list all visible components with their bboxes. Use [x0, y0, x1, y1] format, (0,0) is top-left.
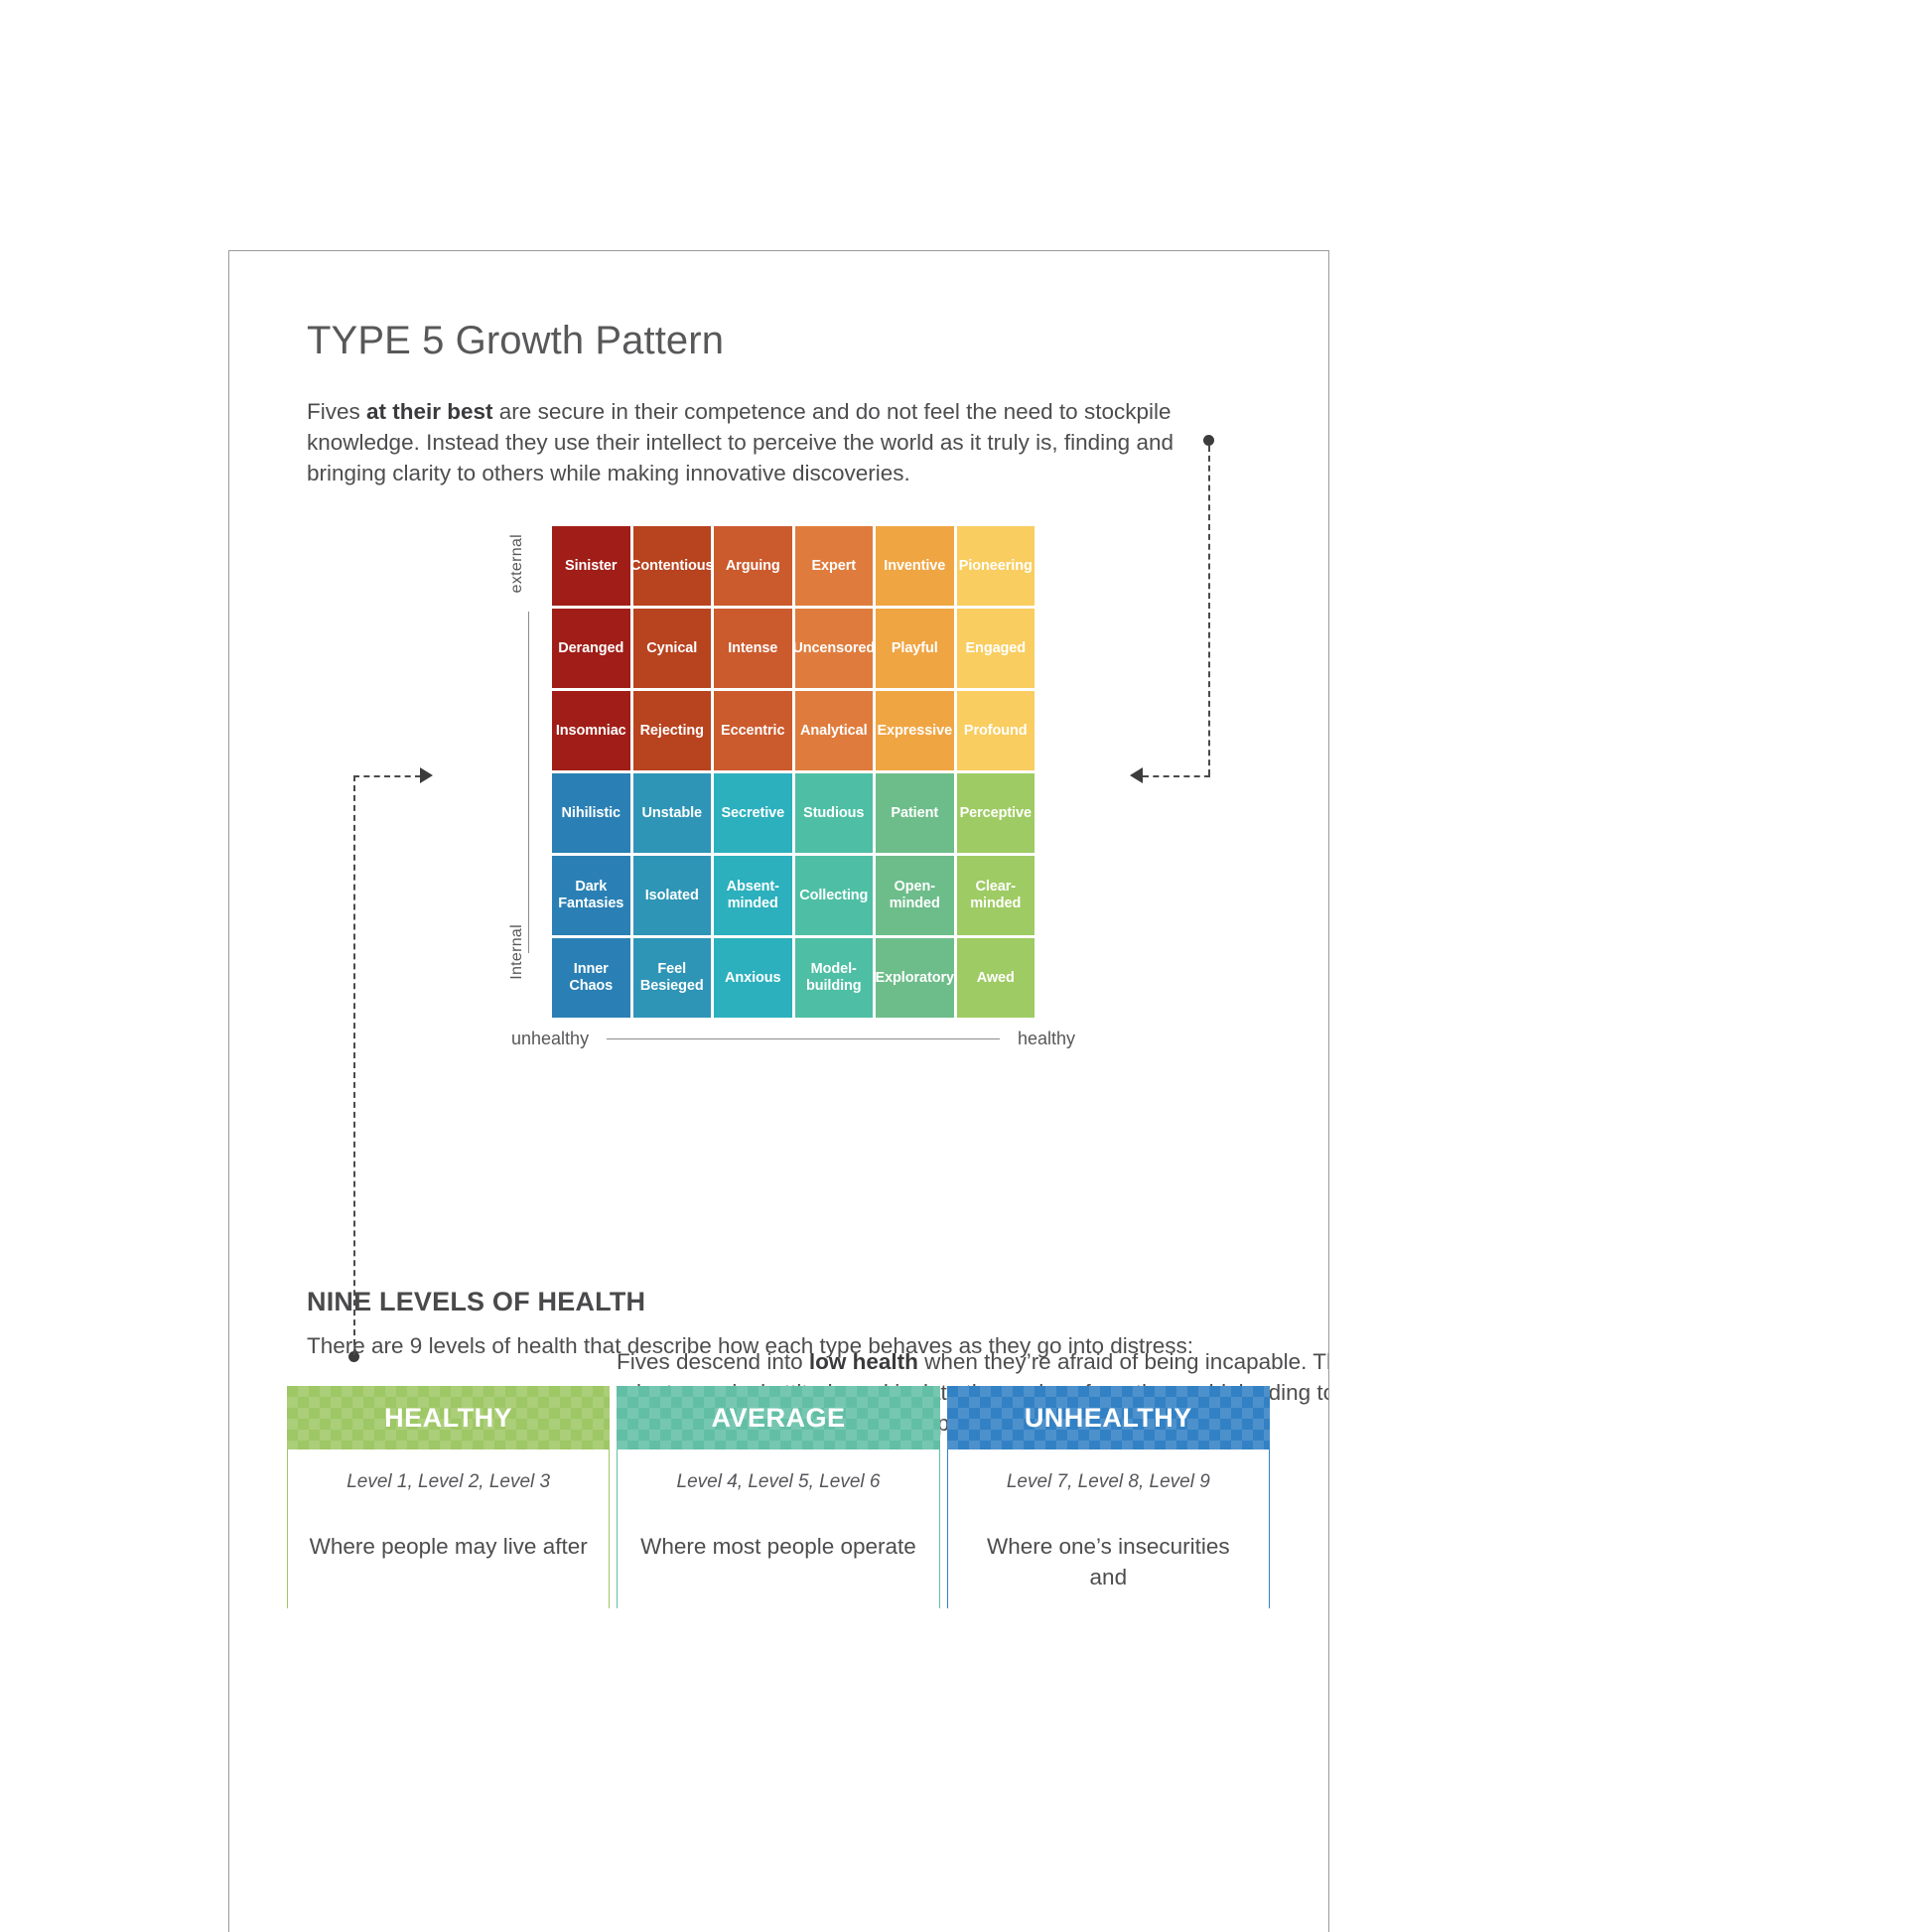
- document-page: TYPE 5 Growth Pattern Fives at their bes…: [228, 250, 1329, 1932]
- level-column-header: AVERAGE: [617, 1386, 939, 1449]
- matrix-cell: Insomniac: [552, 691, 630, 770]
- matrix-cell: Secretive: [714, 773, 792, 853]
- matrix-cell: Expressive: [876, 691, 954, 770]
- axis-label-internal: Internal: [508, 924, 526, 980]
- matrix-cell: Analytical: [795, 691, 874, 770]
- connector-arrow-left: [420, 767, 433, 783]
- connector-arrow-right: [1130, 767, 1143, 783]
- axis-horizontal: unhealthy healthy: [511, 1029, 1075, 1049]
- level-column: AVERAGELevel 4, Level 5, Level 6Where mo…: [617, 1386, 939, 1608]
- intro-paragraph: Fives at their best are secure in their …: [307, 396, 1190, 488]
- matrix-cell: Inner Chaos: [552, 938, 630, 1018]
- axis-horizontal-rule: [607, 1038, 1000, 1039]
- level-column-title: HEALTHY: [384, 1403, 512, 1434]
- matrix-cell: Inventive: [876, 526, 954, 606]
- intro-emphasis: at their best: [366, 399, 493, 424]
- matrix-cell: Intense: [714, 609, 792, 688]
- matrix-cell: Cynical: [633, 609, 712, 688]
- matrix-cell: Unstable: [633, 773, 712, 853]
- page-title: TYPE 5 Growth Pattern: [307, 319, 724, 363]
- matrix-cell: Profound: [957, 691, 1035, 770]
- matrix-cell: Isolated: [633, 856, 712, 935]
- matrix-cell: Open- minded: [876, 856, 954, 935]
- level-column: UNHEALTHYLevel 7, Level 8, Level 9Where …: [947, 1386, 1270, 1608]
- matrix-cell: Studious: [795, 773, 874, 853]
- level-column-body: Level 7, Level 8, Level 9Where one’s ins…: [947, 1449, 1270, 1608]
- matrix-cell: Awed: [957, 938, 1035, 1018]
- matrix-cell: Deranged: [552, 609, 630, 688]
- matrix-cell: Arguing: [714, 526, 792, 606]
- connector-line-left-horizontal: [353, 775, 421, 777]
- matrix-cell: Engaged: [957, 609, 1035, 688]
- matrix-cell: Playful: [876, 609, 954, 688]
- level-range-label: Level 4, Level 5, Level 6: [635, 1471, 920, 1493]
- intro-lead: Fives: [307, 399, 366, 424]
- level-column-title: AVERAGE: [711, 1403, 845, 1434]
- matrix-cell: Patient: [876, 773, 954, 853]
- level-column-title: UNHEALTHY: [1025, 1403, 1192, 1434]
- level-range-label: Level 1, Level 2, Level 3: [306, 1471, 591, 1493]
- connector-dot-right: [1203, 435, 1214, 446]
- matrix-cell: Model- building: [795, 938, 874, 1018]
- matrix-cell: Pioneering: [957, 526, 1035, 606]
- matrix-cell: Uncensored: [795, 609, 874, 688]
- connector-line-right-horizontal: [1143, 775, 1210, 777]
- level-description: Where one’s insecurities and: [966, 1531, 1251, 1592]
- axis-vertical-rule: [528, 612, 529, 953]
- matrix-cell: Collecting: [795, 856, 874, 935]
- level-column-body: Level 1, Level 2, Level 3Where people ma…: [287, 1449, 610, 1608]
- nine-levels-subtitle: There are 9 levels of health that descri…: [307, 1333, 1193, 1359]
- matrix-cell: Exploratory: [876, 938, 954, 1018]
- level-column: HEALTHYLevel 1, Level 2, Level 3Where pe…: [287, 1386, 610, 1608]
- matrix-cell: Nihilistic: [552, 773, 630, 853]
- connector-line-left-vertical: [353, 775, 355, 1355]
- level-description: Where people may live after: [306, 1531, 591, 1562]
- nine-levels-table: HEALTHYLevel 1, Level 2, Level 3Where pe…: [287, 1386, 1270, 1608]
- level-description: Where most people operate: [635, 1531, 920, 1562]
- level-column-header: UNHEALTHY: [947, 1386, 1270, 1449]
- matrix-cell: Anxious: [714, 938, 792, 1018]
- matrix-cell: Perceptive: [957, 773, 1035, 853]
- matrix-grid: SinisterContentiousArguingExpertInventiv…: [552, 526, 1035, 1018]
- matrix-cell: Absent- minded: [714, 856, 792, 935]
- matrix-cell: Clear- minded: [957, 856, 1035, 935]
- level-range-label: Level 7, Level 8, Level 9: [966, 1471, 1251, 1493]
- axis-label-healthy: healthy: [1018, 1029, 1075, 1049]
- level-column-header: HEALTHY: [287, 1386, 610, 1449]
- matrix-cell: Eccentric: [714, 691, 792, 770]
- matrix-cell: Expert: [795, 526, 874, 606]
- matrix-cell: Feel Besieged: [633, 938, 712, 1018]
- nine-levels-title: NINE LEVELS OF HEALTH: [307, 1287, 645, 1317]
- matrix-cell: Rejecting: [633, 691, 712, 770]
- matrix-cell: Sinister: [552, 526, 630, 606]
- level-column-body: Level 4, Level 5, Level 6Where most peop…: [617, 1449, 939, 1608]
- matrix-cell: Contentious: [633, 526, 712, 606]
- axis-label-external: external: [508, 534, 526, 593]
- axis-label-unhealthy: unhealthy: [511, 1029, 589, 1049]
- connector-line-right-vertical: [1208, 446, 1210, 775]
- growth-pattern-matrix: external Internal SinisterContentiousArg…: [552, 526, 1035, 1018]
- matrix-cell: Dark Fantasies: [552, 856, 630, 935]
